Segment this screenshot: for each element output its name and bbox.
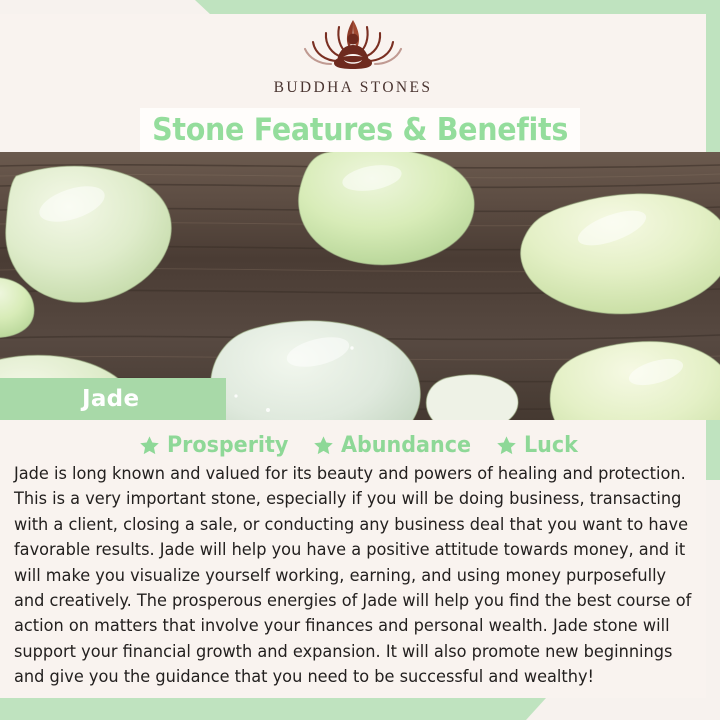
page-title: Stone Features & Benefits [152,112,568,148]
title-banner: Stone Features & Benefits [140,108,580,152]
decorative-bottom-band [0,698,720,720]
brand-logo: BUDDHA STONES [0,16,706,108]
benefit-item-luck: Luck [496,433,581,458]
stone-name-banner: Jade [0,378,226,420]
benefit-item-prosperity: Prosperity [139,433,296,458]
lotus-meditation-icon [287,16,419,78]
brand-wordmark: BUDDHA STONES [274,79,433,97]
benefit-label: Luck [524,433,578,458]
star-icon [313,435,334,456]
description-block: Jade is long known and valued for its be… [14,462,702,691]
stone-name: Jade [82,386,139,412]
benefit-item-abundance: Abundance [313,433,479,458]
stone-benefits-infographic: BUDDHA STONES Stone Features & Benefits [0,0,720,720]
benefits-list: Prosperity Abundance Luck [14,428,706,462]
star-icon [496,435,517,456]
benefit-label: Prosperity [167,433,288,458]
stone-description: Jade is long known and valued for its be… [14,462,701,691]
star-icon [139,435,160,456]
benefit-label: Abundance [341,433,471,458]
decorative-top-band [0,0,720,15]
